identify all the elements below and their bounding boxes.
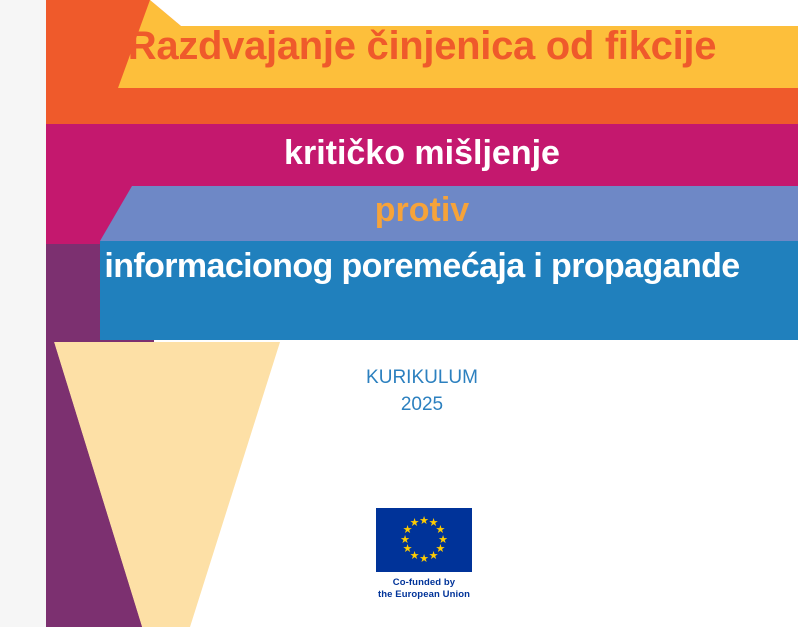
cover-canvas: Razdvajanje činjenica od fikcije kritičk…: [46, 0, 798, 627]
eu-caption-line-1: Co-funded by: [376, 577, 472, 589]
cover-subtitle-line-2: protiv: [46, 193, 798, 227]
cover-subtitle-line-3: informacionog poremećaja i propagande: [46, 249, 798, 283]
cover-subtitle-line-1: kritičko mišljenje: [46, 136, 798, 170]
document-year: 2025: [46, 392, 798, 419]
eu-star-icon: ★: [400, 535, 411, 546]
book-cover-page: Razdvajanje činjenica od fikcije kritičk…: [0, 0, 798, 627]
eu-star-icon: ★: [402, 544, 413, 555]
eu-star-icon: ★: [409, 518, 420, 529]
eu-funding-logo: ★★★★★★★★★★★★ Co-funded by the European U…: [376, 508, 472, 602]
eu-star-icon: ★: [428, 551, 439, 562]
document-meta: KURIKULUM 2025: [46, 365, 798, 419]
cover-title: Razdvajanje činjenica od fikcije: [46, 26, 798, 66]
eu-logo-caption: Co-funded by the European Union: [376, 577, 472, 602]
document-type-label: KURIKULUM: [46, 365, 798, 392]
eu-star-icon: ★: [419, 554, 430, 565]
white-notch: [150, 0, 798, 26]
european-union-flag-icon: ★★★★★★★★★★★★: [376, 508, 472, 572]
eu-caption-line-2: the European Union: [376, 589, 472, 601]
